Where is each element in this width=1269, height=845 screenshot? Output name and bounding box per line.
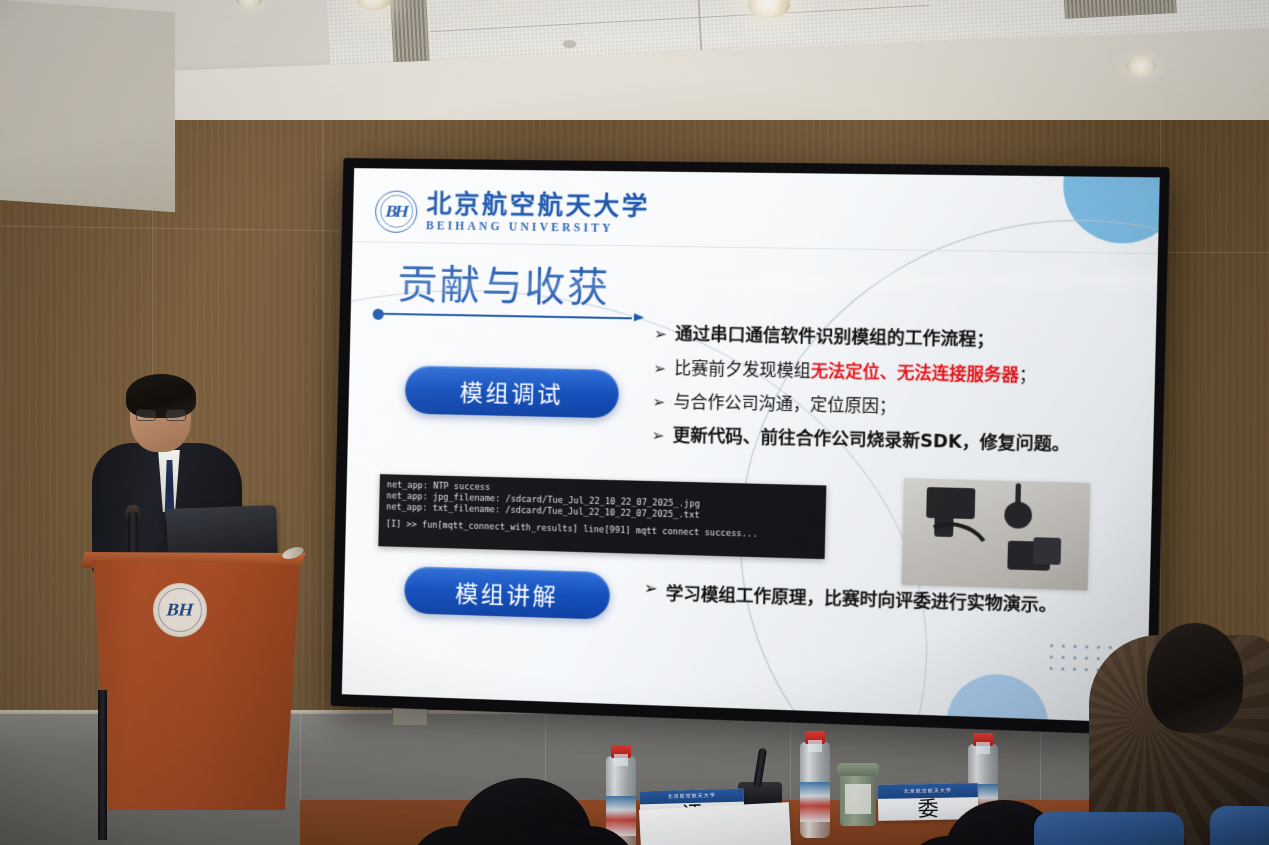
usb-shell xyxy=(1033,537,1061,565)
terminal-log-screenshot: net_app: NTP success net_app: jpg_filena… xyxy=(378,474,826,559)
bottle-neck xyxy=(614,754,628,766)
slide-header: BH 北京航空航天大学 BEIHANG UNIVERSITY xyxy=(352,168,1159,254)
slide-title-block: 贡献与收获 xyxy=(397,265,703,329)
university-name-cn: 北京航空航天大学 xyxy=(426,191,650,220)
wall-plaster-corner xyxy=(0,0,175,212)
wall-seam xyxy=(322,120,323,740)
projection-screen[interactable]: BH 北京航空航天大学 BEIHANG UNIVERSITY 贡献与收获 xyxy=(331,158,1170,736)
antenna-puck xyxy=(1004,501,1032,529)
slide-title: 贡献与收获 xyxy=(397,265,703,311)
university-name-block: 北京航空航天大学 BEIHANG UNIVERSITY xyxy=(426,191,650,235)
bullet-list-module-debug: ➢ 通过串口通信软件识别模组的工作流程； ➢ 比赛前夕发现模组无法定位、无法连接… xyxy=(651,324,1147,472)
audience-head xyxy=(1147,623,1243,733)
seal-mark: BH xyxy=(384,201,409,221)
wall-seam xyxy=(0,226,340,232)
title-rule-arrow-icon xyxy=(634,313,644,321)
podium-university-emblem: BH xyxy=(153,583,207,637)
travel-mug xyxy=(840,772,876,826)
paper-documents xyxy=(639,802,791,845)
bullet-text: 与合作公司沟通，定位原因； xyxy=(673,392,896,417)
chevron-bullet-icon: ➢ xyxy=(644,578,658,599)
bottle-neck xyxy=(808,740,822,752)
presentation-slide: BH 北京航空航天大学 BEIHANG UNIVERSITY 贡献与收获 xyxy=(342,168,1160,723)
screen-bezel: BH 北京航空航天大学 BEIHANG UNIVERSITY 贡献与收获 xyxy=(331,158,1170,736)
namecard-character: 委 xyxy=(917,793,939,823)
conference-room-scene: BH 北京航空航天大学 BEIHANG UNIVERSITY 贡献与收获 xyxy=(0,0,1269,845)
chevron-bullet-icon: ➢ xyxy=(651,428,664,447)
antenna-cable xyxy=(1015,483,1021,504)
cable-loop xyxy=(910,514,997,589)
auditorium-chair xyxy=(1034,812,1184,845)
bullet-text: 通过串口通信软件识别模组的工作流程； xyxy=(675,324,995,351)
title-rule-line xyxy=(381,313,632,320)
podium-seal-mark: BH xyxy=(164,600,195,621)
smoke-detector xyxy=(563,40,576,47)
section-pill-module-explain[interactable]: 模组讲解 xyxy=(404,566,611,620)
chevron-bullet-icon: ➢ xyxy=(652,394,665,413)
bullet-text: 比赛前夕发现模组无法定位、无法连接服务器； xyxy=(674,358,1037,386)
bullet-text-prefix: 比赛前夕发现模组 xyxy=(674,358,811,380)
chevron-bullet-icon: ➢ xyxy=(653,360,666,379)
hardware-module-photo xyxy=(901,478,1090,590)
mug-lid xyxy=(837,763,879,776)
mug-window xyxy=(845,784,871,814)
recessed-light xyxy=(236,0,262,8)
bullet-item: ➢ 比赛前夕发现模组无法定位、无法连接服务器； xyxy=(653,358,1147,389)
section-pill-module-debug[interactable]: 模组调试 xyxy=(404,365,619,418)
bottle-neck xyxy=(976,742,990,754)
floor-microphone-stand xyxy=(98,690,107,840)
bullet-item: ➢ 与合作公司沟通，定位原因； xyxy=(652,392,1146,424)
speaker-glasses xyxy=(136,409,186,418)
bullet-text: 更新代码、前往合作公司烧录新SDK，修复问题。 xyxy=(673,426,1071,457)
university-name-en: BEIHANG UNIVERSITY xyxy=(426,220,650,235)
water-bottle xyxy=(800,742,830,838)
bullet-text-suffix: ； xyxy=(1019,365,1037,385)
university-seal-icon: BH xyxy=(375,190,418,233)
recessed-light xyxy=(1126,56,1156,76)
auditorium-chair xyxy=(1210,806,1269,845)
bullet-item: ➢ 更新代码、前往合作公司烧录新SDK，修复问题。 xyxy=(651,426,1145,459)
audience-shoulders xyxy=(408,826,638,845)
chevron-bullet-icon: ➢ xyxy=(654,326,667,345)
bottle-label xyxy=(800,782,830,822)
bullet-text-highlight: 无法定位、无法连接服务器 xyxy=(811,361,1019,385)
